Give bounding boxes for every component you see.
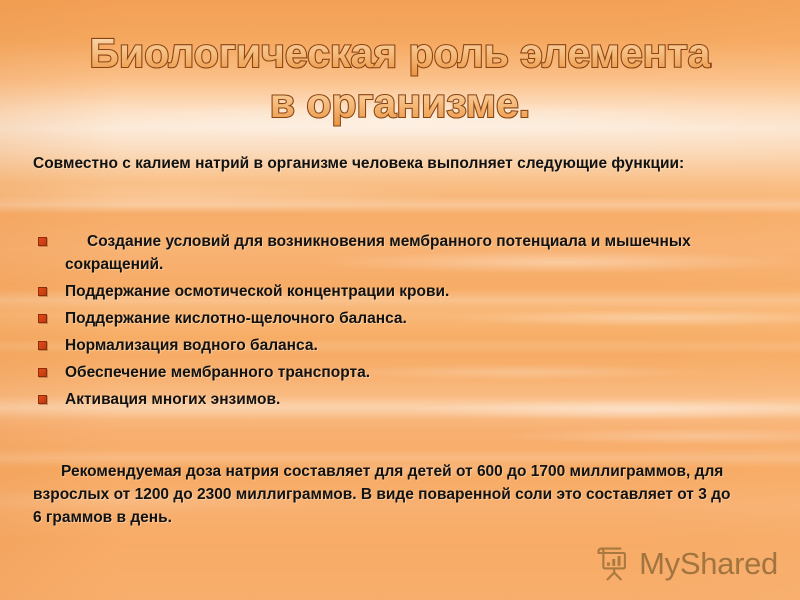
square-bullet-icon bbox=[38, 341, 47, 350]
list-item-label: Создание условий для возникновения мембр… bbox=[65, 230, 763, 276]
intro-paragraph: Совместно с калием натрий в организме че… bbox=[33, 152, 733, 175]
list-item: Нормализация водного баланса. bbox=[33, 334, 763, 357]
list-item: Поддержание осмотической концентрации кр… bbox=[33, 280, 763, 303]
square-bullet-icon bbox=[38, 314, 47, 323]
list-item-label: Поддержание осмотической концентрации кр… bbox=[65, 280, 763, 303]
slide-title: Биологическая роль элемента Биологическа… bbox=[0, 28, 800, 128]
slide-title-line-1-text: Биологическая роль элемента bbox=[90, 28, 711, 78]
list-item: Создание условий для возникновения мембр… bbox=[33, 230, 763, 276]
list-item-label: Обеспечение мембранного транспорта. bbox=[65, 361, 763, 384]
slide-title-line-2: в организме. в организме. bbox=[0, 78, 800, 128]
myshared-watermark: MyShared bbox=[594, 546, 778, 582]
list-item: Поддержание кислотно-щелочного баланса. bbox=[33, 307, 763, 330]
square-bullet-icon bbox=[38, 287, 47, 296]
presentation-chart-icon bbox=[594, 546, 630, 582]
square-bullet-icon bbox=[38, 237, 47, 246]
list-item-label: Активация многих энзимов. bbox=[65, 388, 763, 411]
slide-title-line-2-text: в организме. bbox=[270, 78, 530, 128]
closing-paragraph: Рекомендуемая доза натрия составляет для… bbox=[33, 460, 733, 529]
list-item: Активация многих энзимов. bbox=[33, 388, 763, 411]
watermark-label: MyShared bbox=[639, 547, 778, 581]
slide-title-line-1: Биологическая роль элемента Биологическа… bbox=[0, 28, 800, 78]
presentation-slide: Биологическая роль элемента Биологическа… bbox=[0, 0, 800, 600]
square-bullet-icon bbox=[38, 395, 47, 404]
square-bullet-icon bbox=[38, 368, 47, 377]
list-item-text: Создание условий для возникновения мембр… bbox=[65, 233, 691, 273]
list-item-label: Нормализация водного баланса. bbox=[65, 334, 763, 357]
list-item: Обеспечение мембранного транспорта. bbox=[33, 361, 763, 384]
bullet-list: Создание условий для возникновения мембр… bbox=[33, 230, 763, 415]
list-item-label: Поддержание кислотно-щелочного баланса. bbox=[65, 307, 763, 330]
